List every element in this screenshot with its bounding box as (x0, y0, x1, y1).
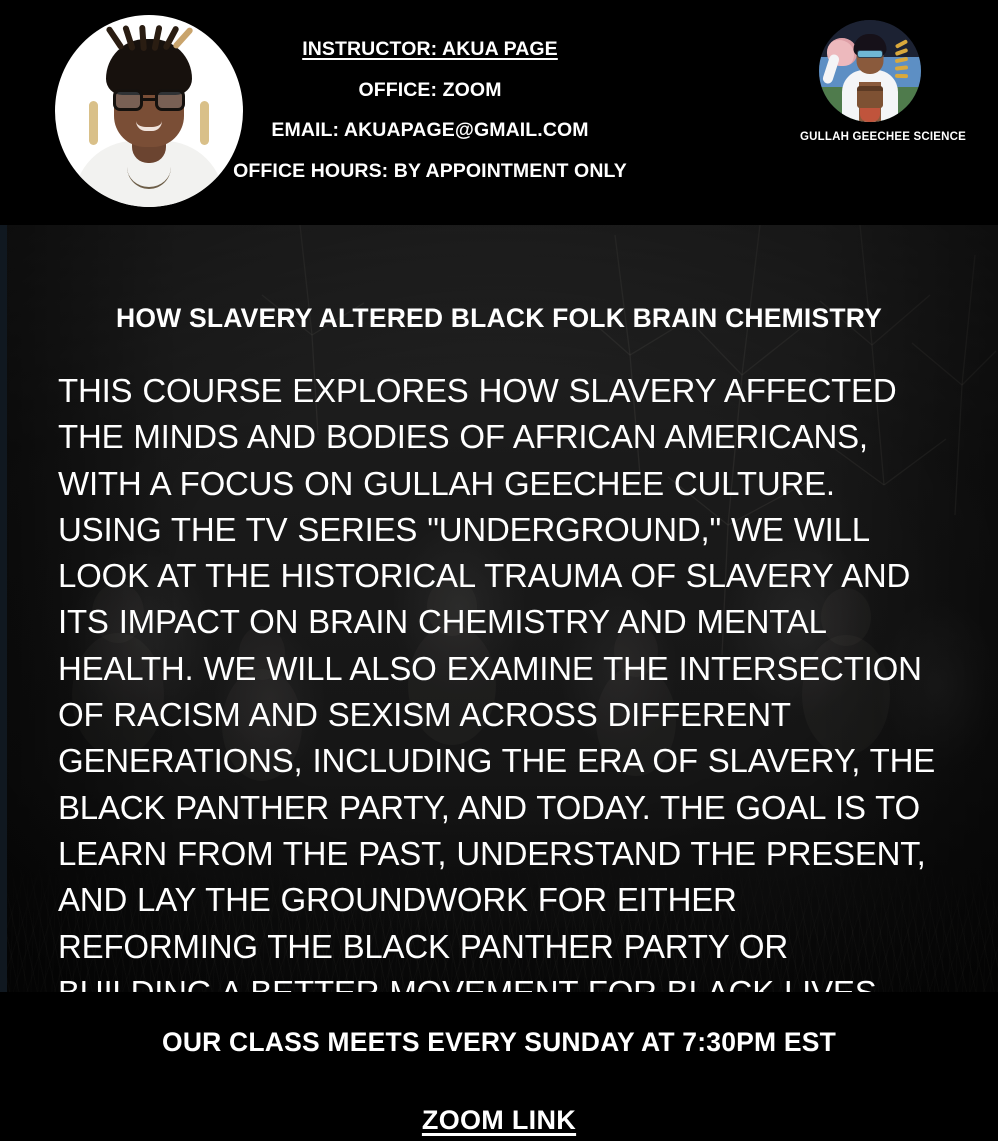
instructor-name-line: INSTRUCTOR: AKUA PAGE (150, 40, 710, 60)
clipboard-icon (857, 86, 883, 108)
office-hours-line: OFFICE HOURS: BY APPOINTMENT ONLY (150, 162, 710, 182)
instructor-info-block: INSTRUCTOR: AKUA PAGE OFFICE: ZOOM EMAIL… (150, 40, 710, 202)
course-flyer: INSTRUCTOR: AKUA PAGE OFFICE: ZOOM EMAIL… (0, 0, 998, 1141)
beaker-icon (860, 108, 880, 122)
left-edge-strip (0, 225, 7, 992)
gullah-geechee-science-logo-icon (819, 20, 921, 122)
brand-label: GULLAH GEECHEE SCIENCE (800, 131, 940, 143)
course-description: THIS COURSE EXPLORES HOW SLAVERY AFFECTE… (58, 368, 940, 992)
flyer-header: INSTRUCTOR: AKUA PAGE OFFICE: ZOOM EMAIL… (0, 0, 998, 225)
brand-block: GULLAH GEECHEE SCIENCE (800, 20, 940, 143)
flyer-main-section: HOW SLAVERY ALTERED BLACK FOLK BRAIN CHE… (0, 225, 998, 992)
office-line: OFFICE: ZOOM (150, 81, 710, 101)
portrait-earring-left (89, 101, 98, 145)
sunglasses-icon (857, 50, 883, 58)
meeting-time: OUR CLASS MEETS EVERY SUNDAY AT 7:30PM E… (0, 992, 998, 1058)
course-title: HOW SLAVERY ALTERED BLACK FOLK BRAIN CHE… (58, 225, 940, 334)
wheat-sprig-icon (890, 40, 912, 84)
flyer-footer: OUR CLASS MEETS EVERY SUNDAY AT 7:30PM E… (0, 992, 998, 1141)
email-line[interactable]: EMAIL: AKUAPAGE@GMAIL.COM (150, 121, 710, 141)
zoom-link-label[interactable]: ZOOM LINK (422, 1105, 576, 1136)
